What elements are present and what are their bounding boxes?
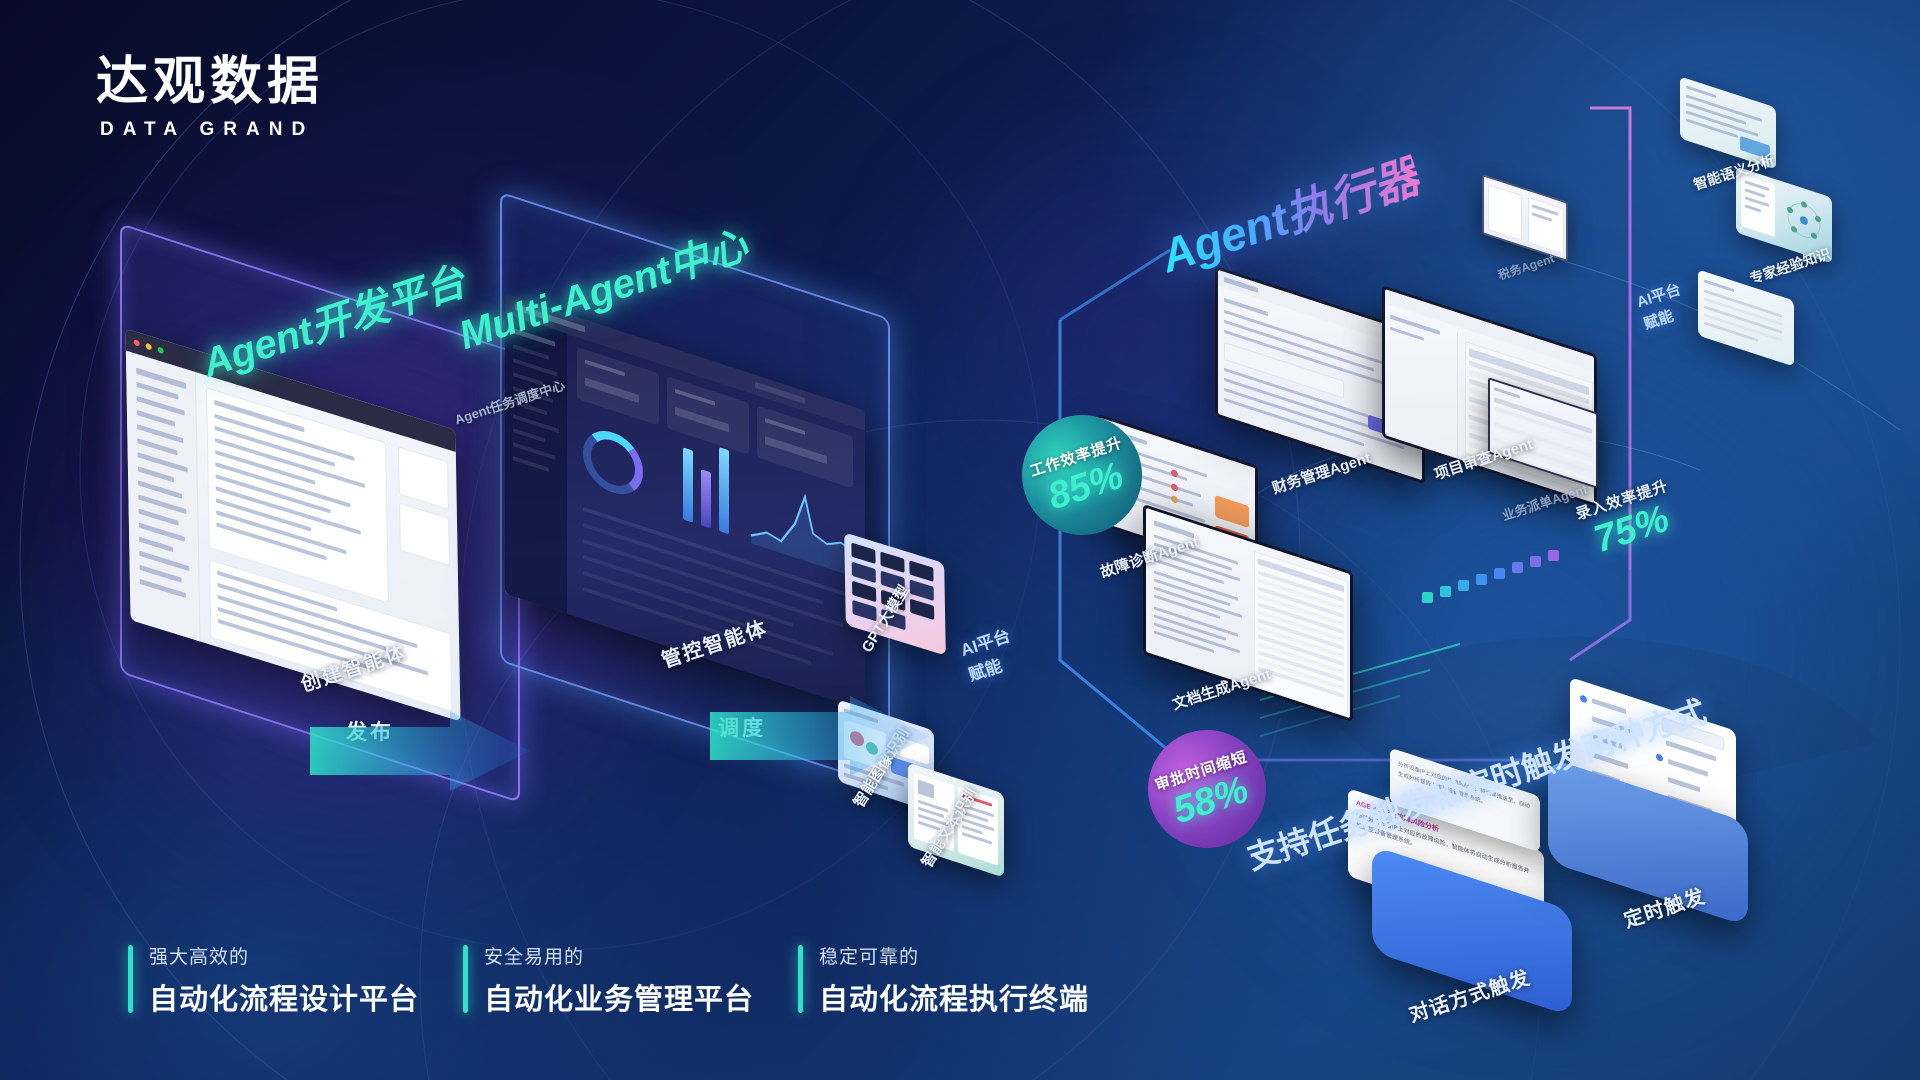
caption-2: 安全易用的 自动化业务管理平台 (463, 942, 754, 1018)
bottom-captions: 强大高效的 自动化流程设计平台 安全易用的 自动化业务管理平台 稳定可靠的 自动… (128, 942, 1089, 1018)
brand-name-cn: 达观数据 (96, 55, 324, 110)
flow-arrow-publish (300, 705, 540, 800)
caption-3-main: 自动化流程执行终端 (819, 976, 1089, 1018)
caption-2-sub: 安全易用的 (484, 942, 754, 969)
caption-1-sub: 强大高效的 (149, 942, 419, 969)
caption-3-sub: 稳定可靠的 (819, 942, 1089, 969)
caption-1: 强大高效的 自动化流程设计平台 (128, 942, 419, 1018)
caption-2-main: 自动化业务管理平台 (484, 976, 754, 1018)
caption-3: 稳定可靠的 自动化流程执行终端 (798, 942, 1089, 1018)
brand-logo: 达观数据 DATA GRAND (96, 55, 324, 141)
flow-arrow-dispatch (700, 690, 940, 785)
infographic-canvas: 达观数据 DATA GRAND (0, 0, 1920, 1080)
caption-1-main: 自动化流程设计平台 (149, 976, 419, 1018)
progress-dash-indicator (1420, 540, 1600, 610)
brand-name-en: DATA GRAND (96, 119, 324, 141)
caption-1-bar (128, 945, 133, 1013)
right-card-extra-surface (1698, 269, 1794, 366)
right-card-extra[interactable] (1698, 269, 1794, 366)
caption-2-bar (463, 945, 468, 1013)
caption-3-bar (798, 945, 803, 1013)
ai-platform-label-middle: AI平台 赋能 (957, 623, 1021, 687)
